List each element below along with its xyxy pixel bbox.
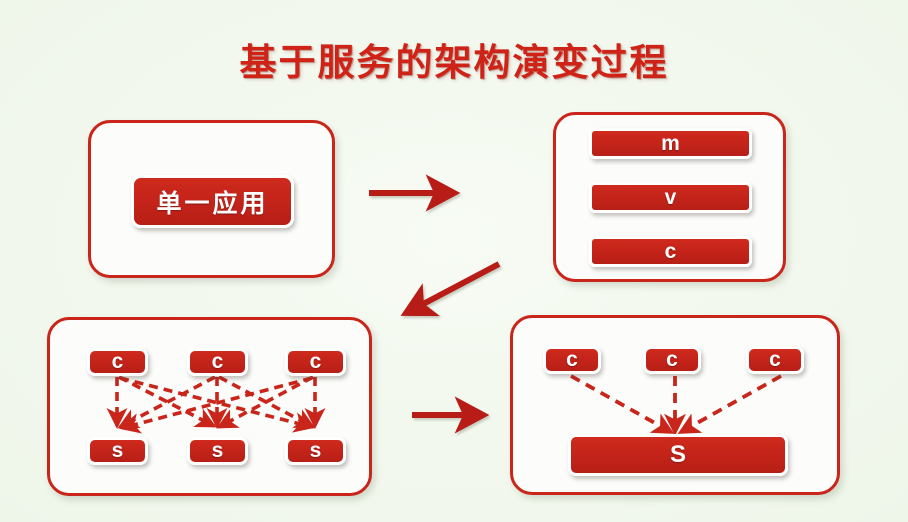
single-application-panel: 单一应用: [88, 120, 335, 278]
page-title: 基于服务的架构演变过程: [0, 32, 908, 86]
chip-view[interactable]: v: [589, 182, 752, 213]
shared-service-panel: c c c S: [510, 315, 840, 495]
bus-client-2[interactable]: c: [643, 346, 701, 374]
mvc-panel: m v c: [553, 112, 786, 282]
chip-controller[interactable]: c: [589, 236, 752, 267]
mesh-client-2[interactable]: c: [187, 348, 248, 376]
mesh-edges: [50, 320, 375, 499]
chip-model[interactable]: m: [589, 128, 752, 159]
slide-canvas: 基于服务的架构演变过程 单一应用 m v c: [0, 0, 908, 522]
bus-client-3[interactable]: c: [746, 346, 804, 374]
arrow-mvc-to-mesh: [408, 264, 499, 312]
mesh-client-1[interactable]: c: [87, 348, 148, 376]
chip-single-application[interactable]: 单一应用: [131, 175, 294, 228]
mesh-server-2[interactable]: s: [187, 437, 248, 465]
client-server-mesh-panel: c c c s s s: [47, 317, 372, 496]
mesh-server-1[interactable]: s: [87, 437, 148, 465]
mesh-server-3[interactable]: s: [285, 437, 346, 465]
bus-shared-server[interactable]: S: [568, 434, 788, 476]
mesh-client-3[interactable]: c: [285, 348, 346, 376]
bus-client-1[interactable]: c: [543, 346, 601, 374]
